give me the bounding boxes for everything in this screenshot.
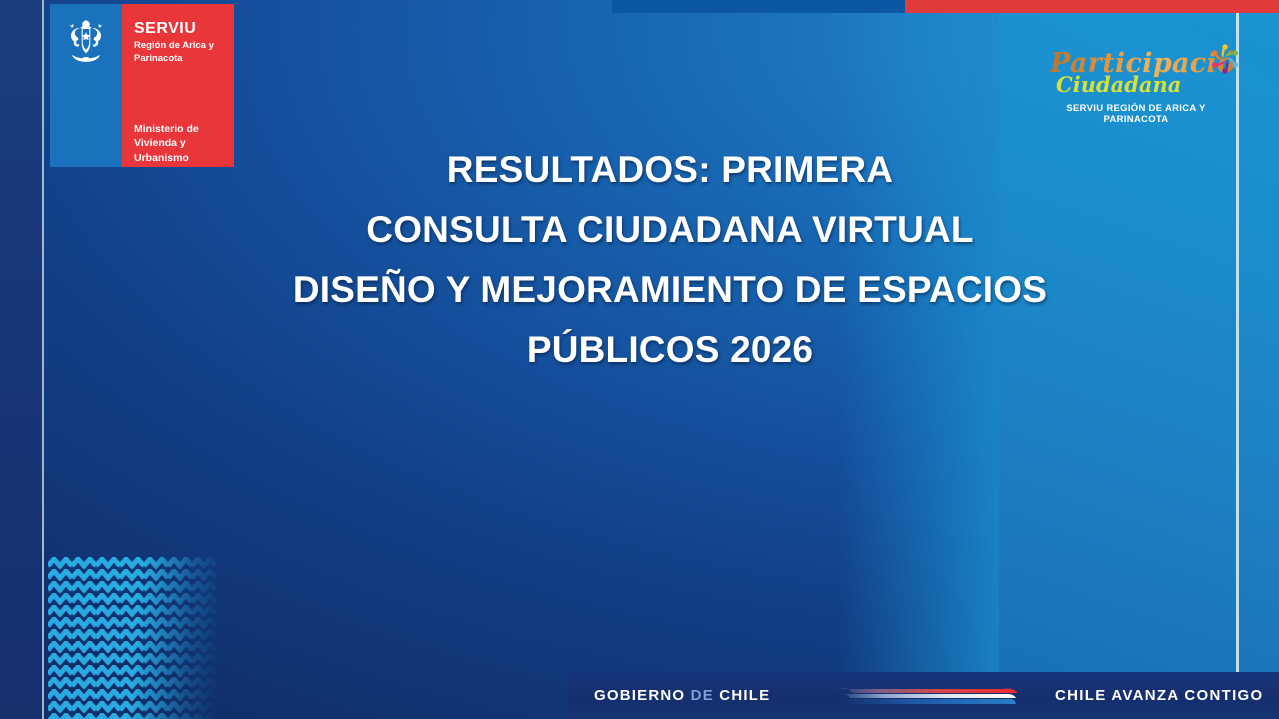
top-ribbon: [612, 0, 1279, 13]
title-line-3: DISEÑO Y MEJORAMIENTO DE ESPACIOS: [200, 260, 1140, 320]
title-line-2: CONSULTA CIUDADANA VIRTUAL: [200, 200, 1140, 260]
zigzag-chevron-pattern: [48, 557, 216, 719]
top-ribbon-red-segment: [905, 0, 1279, 13]
top-ribbon-blue-segment: [612, 0, 905, 13]
left-dark-strip: [0, 0, 44, 719]
footer-bar: GOBIERNO DE CHILE: [568, 672, 1279, 719]
serviu-logo-region: Región de Arica y Parinacota: [134, 40, 230, 66]
presentation-slide: SERVIU Región de Arica y Parinacota Mini…: [0, 0, 1279, 719]
serviu-logo-name: SERVIU: [134, 20, 234, 38]
de-word: DE: [691, 687, 714, 704]
footer-tagline: CHILE AVANZA CONTIGO: [1055, 687, 1264, 704]
participacion-ciudadana-logo: Participación Ciudadana SERVIU REGIÓN DE…: [1036, 50, 1236, 126]
gobierno-word: GOBIERNO: [594, 687, 685, 704]
people-pinwheel-icon: [1202, 36, 1248, 82]
gobierno-de-chile-wordmark: GOBIERNO DE CHILE: [594, 687, 770, 704]
chile-coat-of-arms-icon: [58, 16, 114, 70]
title-line-1: RESULTADOS: PRIMERA: [200, 140, 1140, 200]
participacion-subtitle: SERVIU REGIÓN DE ARICA Y PARINACOTA: [1036, 103, 1236, 126]
page-title: RESULTADOS: PRIMERA CONSULTA CIUDADANA V…: [200, 140, 1140, 380]
right-vertical-rule: [1236, 0, 1239, 719]
chile-word: CHILE: [719, 687, 770, 704]
left-vertical-rule: [42, 0, 44, 719]
title-line-4: PÚBLICOS 2026: [200, 320, 1140, 380]
chile-flag-swoosh-icon: [836, 684, 1026, 708]
